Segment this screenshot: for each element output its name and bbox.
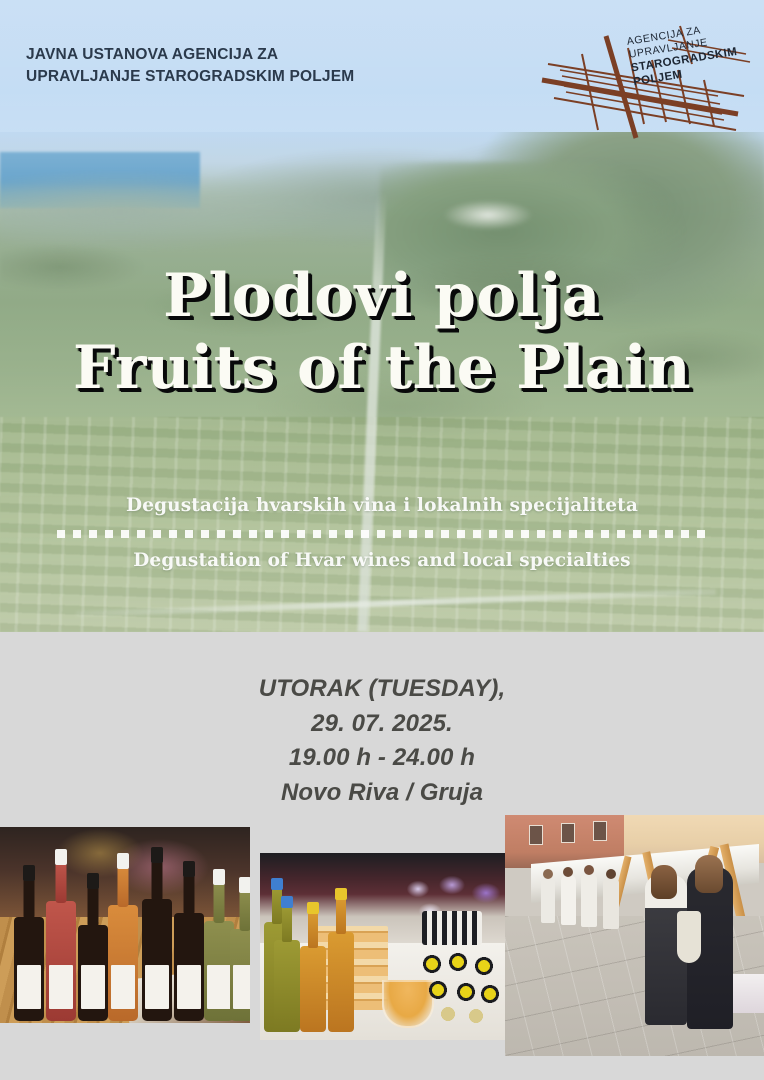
logo: AGENCIJA ZA UPRAVLJANJE STAROGRADSKIM PO…	[540, 18, 758, 143]
event-details: UTORAK (TUESDAY), 29. 07. 2025. 19.00 h …	[0, 672, 764, 810]
market-visitor-head	[606, 869, 616, 879]
stall-striped-goods	[422, 911, 482, 945]
subtitle-block: Degustacija hvarskih vina i lokalnih spe…	[0, 495, 764, 571]
photo-wine-bottles	[0, 827, 250, 1023]
market-visitor-head	[651, 865, 677, 899]
wine-bottle	[174, 913, 204, 1021]
market-visitor-bag	[677, 911, 701, 963]
market-photo-window	[593, 821, 607, 841]
market-visitor-head	[543, 869, 553, 879]
event-date: 29. 07. 2025.	[0, 707, 764, 742]
wine-bottle	[142, 899, 172, 1021]
event-location: Novo Riva / Gruja	[0, 776, 764, 811]
title-english: Fruits of the Plain	[0, 338, 764, 398]
stall-bottle	[274, 940, 300, 1032]
market-visitor-head	[584, 865, 594, 875]
wine-bottle	[230, 929, 250, 1021]
market-visitor	[541, 877, 555, 923]
title-block: Plodovi polja Fruits of the Plain	[0, 266, 764, 398]
market-visitor-head	[695, 855, 723, 893]
title-croatian: Plodovi polja	[0, 266, 764, 326]
event-time: 19.00 h - 24.00 h	[0, 741, 764, 776]
quarry-patch	[428, 194, 548, 236]
market-visitor	[603, 877, 619, 929]
wine-bottle	[78, 925, 108, 1021]
market-visitor-head	[563, 867, 573, 877]
stall-bottle	[328, 932, 354, 1032]
organization-name: JAVNA USTANOVA AGENCIJA ZA UPRAVLJANJE S…	[26, 44, 356, 88]
subtitle-english: Degustation of Hvar wines and local spec…	[0, 550, 764, 571]
wine-bottle	[46, 901, 76, 1021]
wine-bottle	[108, 905, 138, 1021]
event-day: UTORAK (TUESDAY),	[0, 672, 764, 707]
poster: JAVNA USTANOVA AGENCIJA ZA UPRAVLJANJE S…	[0, 0, 764, 1080]
stall-bottle	[300, 946, 326, 1032]
market-visitor	[561, 875, 576, 925]
market-photo-window	[561, 823, 575, 843]
market-visitor	[581, 873, 597, 927]
market-photo-window	[529, 825, 543, 845]
photo-market-street	[505, 815, 764, 1056]
photo-local-products	[260, 853, 506, 1040]
subtitle-croatian: Degustacija hvarskih vina i lokalnih spe…	[0, 495, 764, 516]
hero-section: JAVNA USTANOVA AGENCIJA ZA UPRAVLJANJE S…	[0, 0, 764, 632]
dotted-divider	[57, 530, 707, 538]
wine-bottle	[14, 917, 44, 1021]
stall-jars	[418, 952, 502, 1028]
